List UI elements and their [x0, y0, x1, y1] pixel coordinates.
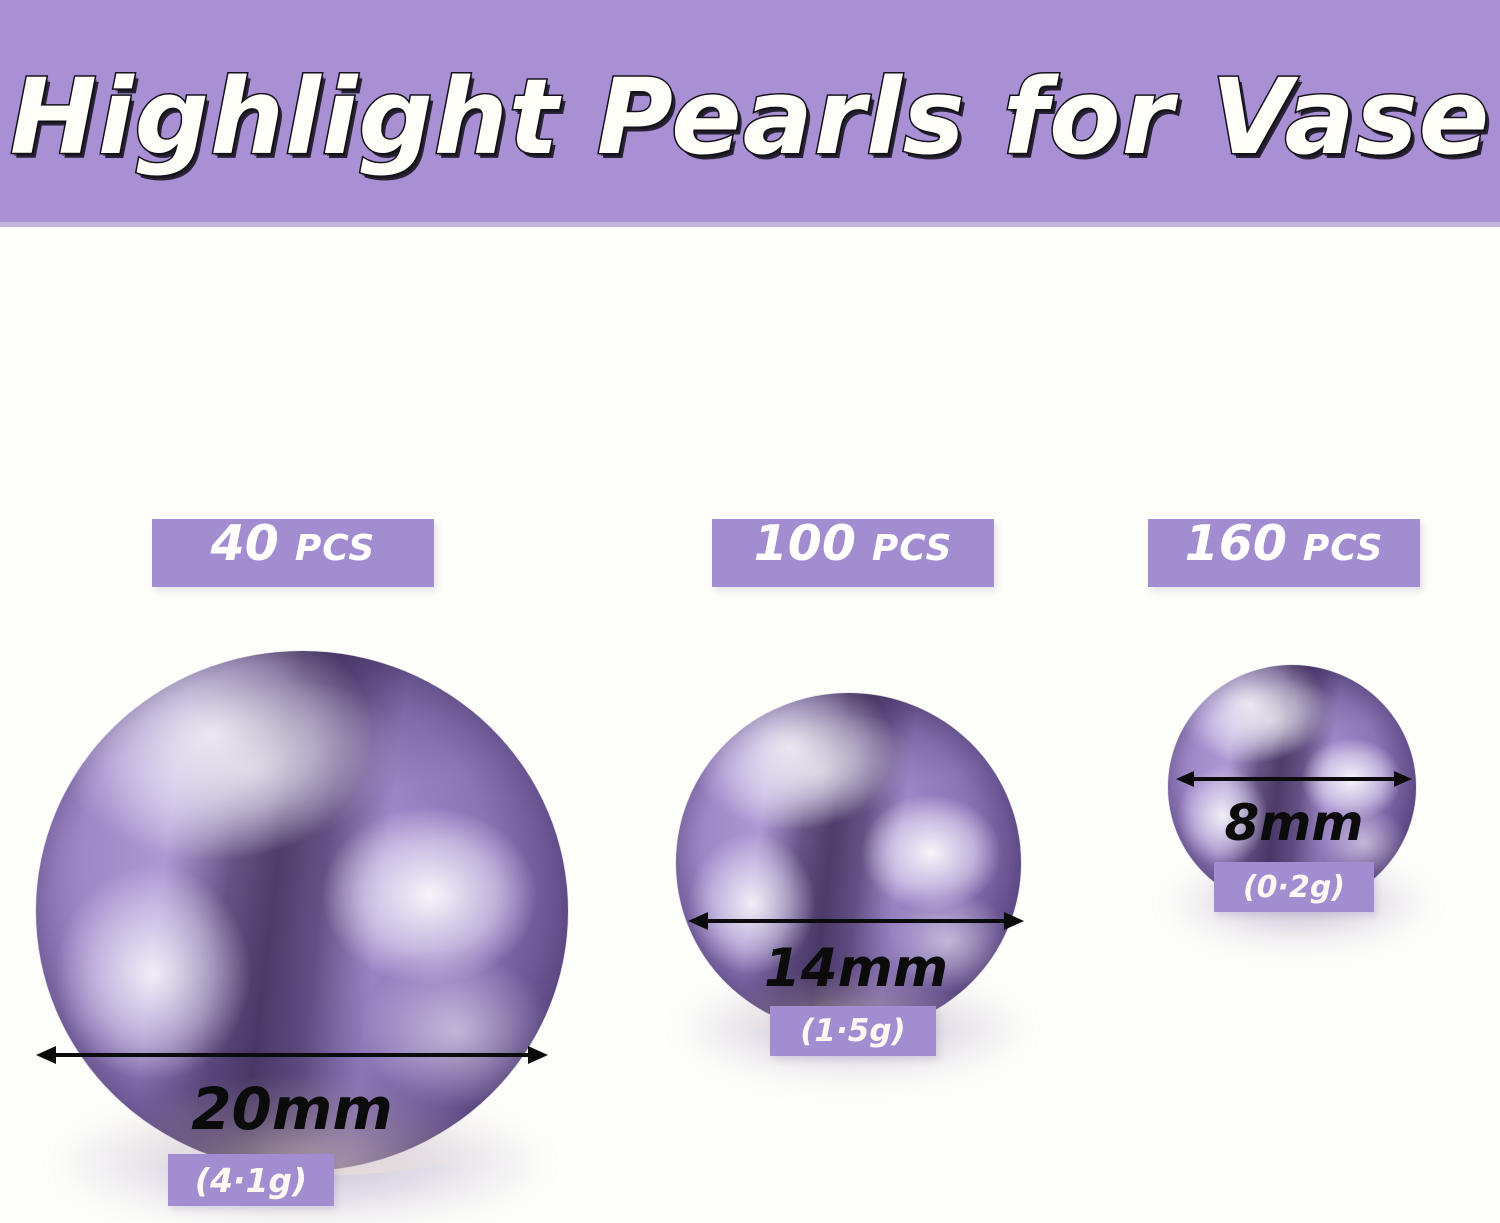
count-badge-40-unit: PCS — [295, 531, 375, 567]
count-badge-100-unit: PCS — [872, 531, 952, 567]
dimension-arrow-20mm — [36, 1042, 548, 1068]
dimension-label-14mm: 14mm — [688, 942, 1024, 995]
weight-badge-8mm: (0·2g) — [1214, 862, 1374, 912]
count-badge-160-number: 160 — [1185, 519, 1287, 568]
weight-badge-14mm: (1·5g) — [770, 1006, 936, 1056]
count-badge-160: 160 PCS — [1148, 519, 1420, 587]
dimension-arrow-8mm — [1176, 766, 1412, 792]
count-badge-40: 40 PCS — [152, 519, 434, 587]
page-title: Highlight Pearls for Vase — [0, 52, 1500, 182]
dimension-label-20mm: 20mm — [36, 1080, 548, 1138]
weight-badge-20mm: (4·1g) — [168, 1154, 334, 1206]
count-badge-40-number: 40 — [211, 519, 279, 568]
count-badge-100: 100 PCS — [712, 519, 994, 587]
count-badge-100-number: 100 — [754, 519, 856, 568]
dimension-label-8mm: 8mm — [1176, 798, 1412, 848]
dimension-arrow-14mm — [688, 908, 1024, 934]
count-badge-160-unit: PCS — [1303, 531, 1383, 567]
